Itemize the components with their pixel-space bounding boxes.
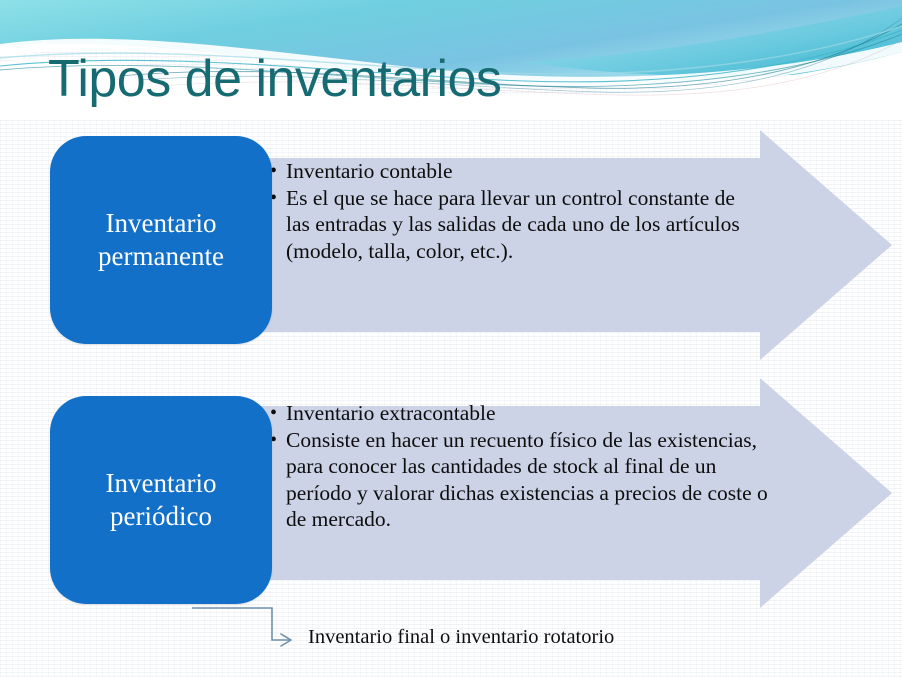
arrow-1-bullet-list: • Inventario contable • Es el que se hac… bbox=[270, 158, 760, 264]
list-item: • Es el que se hace para llevar un contr… bbox=[270, 185, 760, 265]
bullet-glyph: • bbox=[270, 158, 286, 185]
list-item-text: Inventario extracontable bbox=[286, 400, 770, 427]
bullet-glyph: • bbox=[270, 185, 286, 212]
list-item-text: Consiste en hacer un recuento físico de … bbox=[286, 427, 770, 533]
category-box-2-label: Inventario periódico bbox=[106, 467, 217, 533]
category-box-1-label: Inventario permanente bbox=[98, 207, 224, 273]
arrow-2-bullet-list: • Inventario extracontable • Consiste en… bbox=[270, 400, 770, 533]
elbow-connector-arrow-icon bbox=[190, 598, 300, 658]
category-box-inventario-periodico[interactable]: Inventario periódico bbox=[50, 396, 272, 604]
slide-canvas: Tipos de inventarios • Inventario contab… bbox=[0, 0, 902, 677]
list-item-text: Inventario contable bbox=[286, 158, 760, 185]
list-item-text: Es el que se hace para llevar un control… bbox=[286, 185, 760, 265]
bullet-glyph: • bbox=[270, 427, 286, 454]
page-title: Tipos de inventarios bbox=[48, 50, 501, 108]
category-box-2-label-line1: Inventario bbox=[106, 467, 217, 500]
category-box-1-label-line1: Inventario bbox=[98, 207, 224, 240]
category-box-1-label-line2: permanente bbox=[98, 240, 224, 273]
bullet-glyph: • bbox=[270, 400, 286, 427]
list-item: • Inventario extracontable bbox=[270, 400, 770, 427]
caption-text: Inventario final o inventario rotatorio bbox=[308, 624, 614, 650]
list-item: • Inventario contable bbox=[270, 158, 760, 185]
category-box-2-label-line2: periódico bbox=[106, 500, 217, 533]
category-box-inventario-permanente[interactable]: Inventario permanente bbox=[50, 136, 272, 344]
list-item: • Consiste en hacer un recuento físico d… bbox=[270, 427, 770, 533]
